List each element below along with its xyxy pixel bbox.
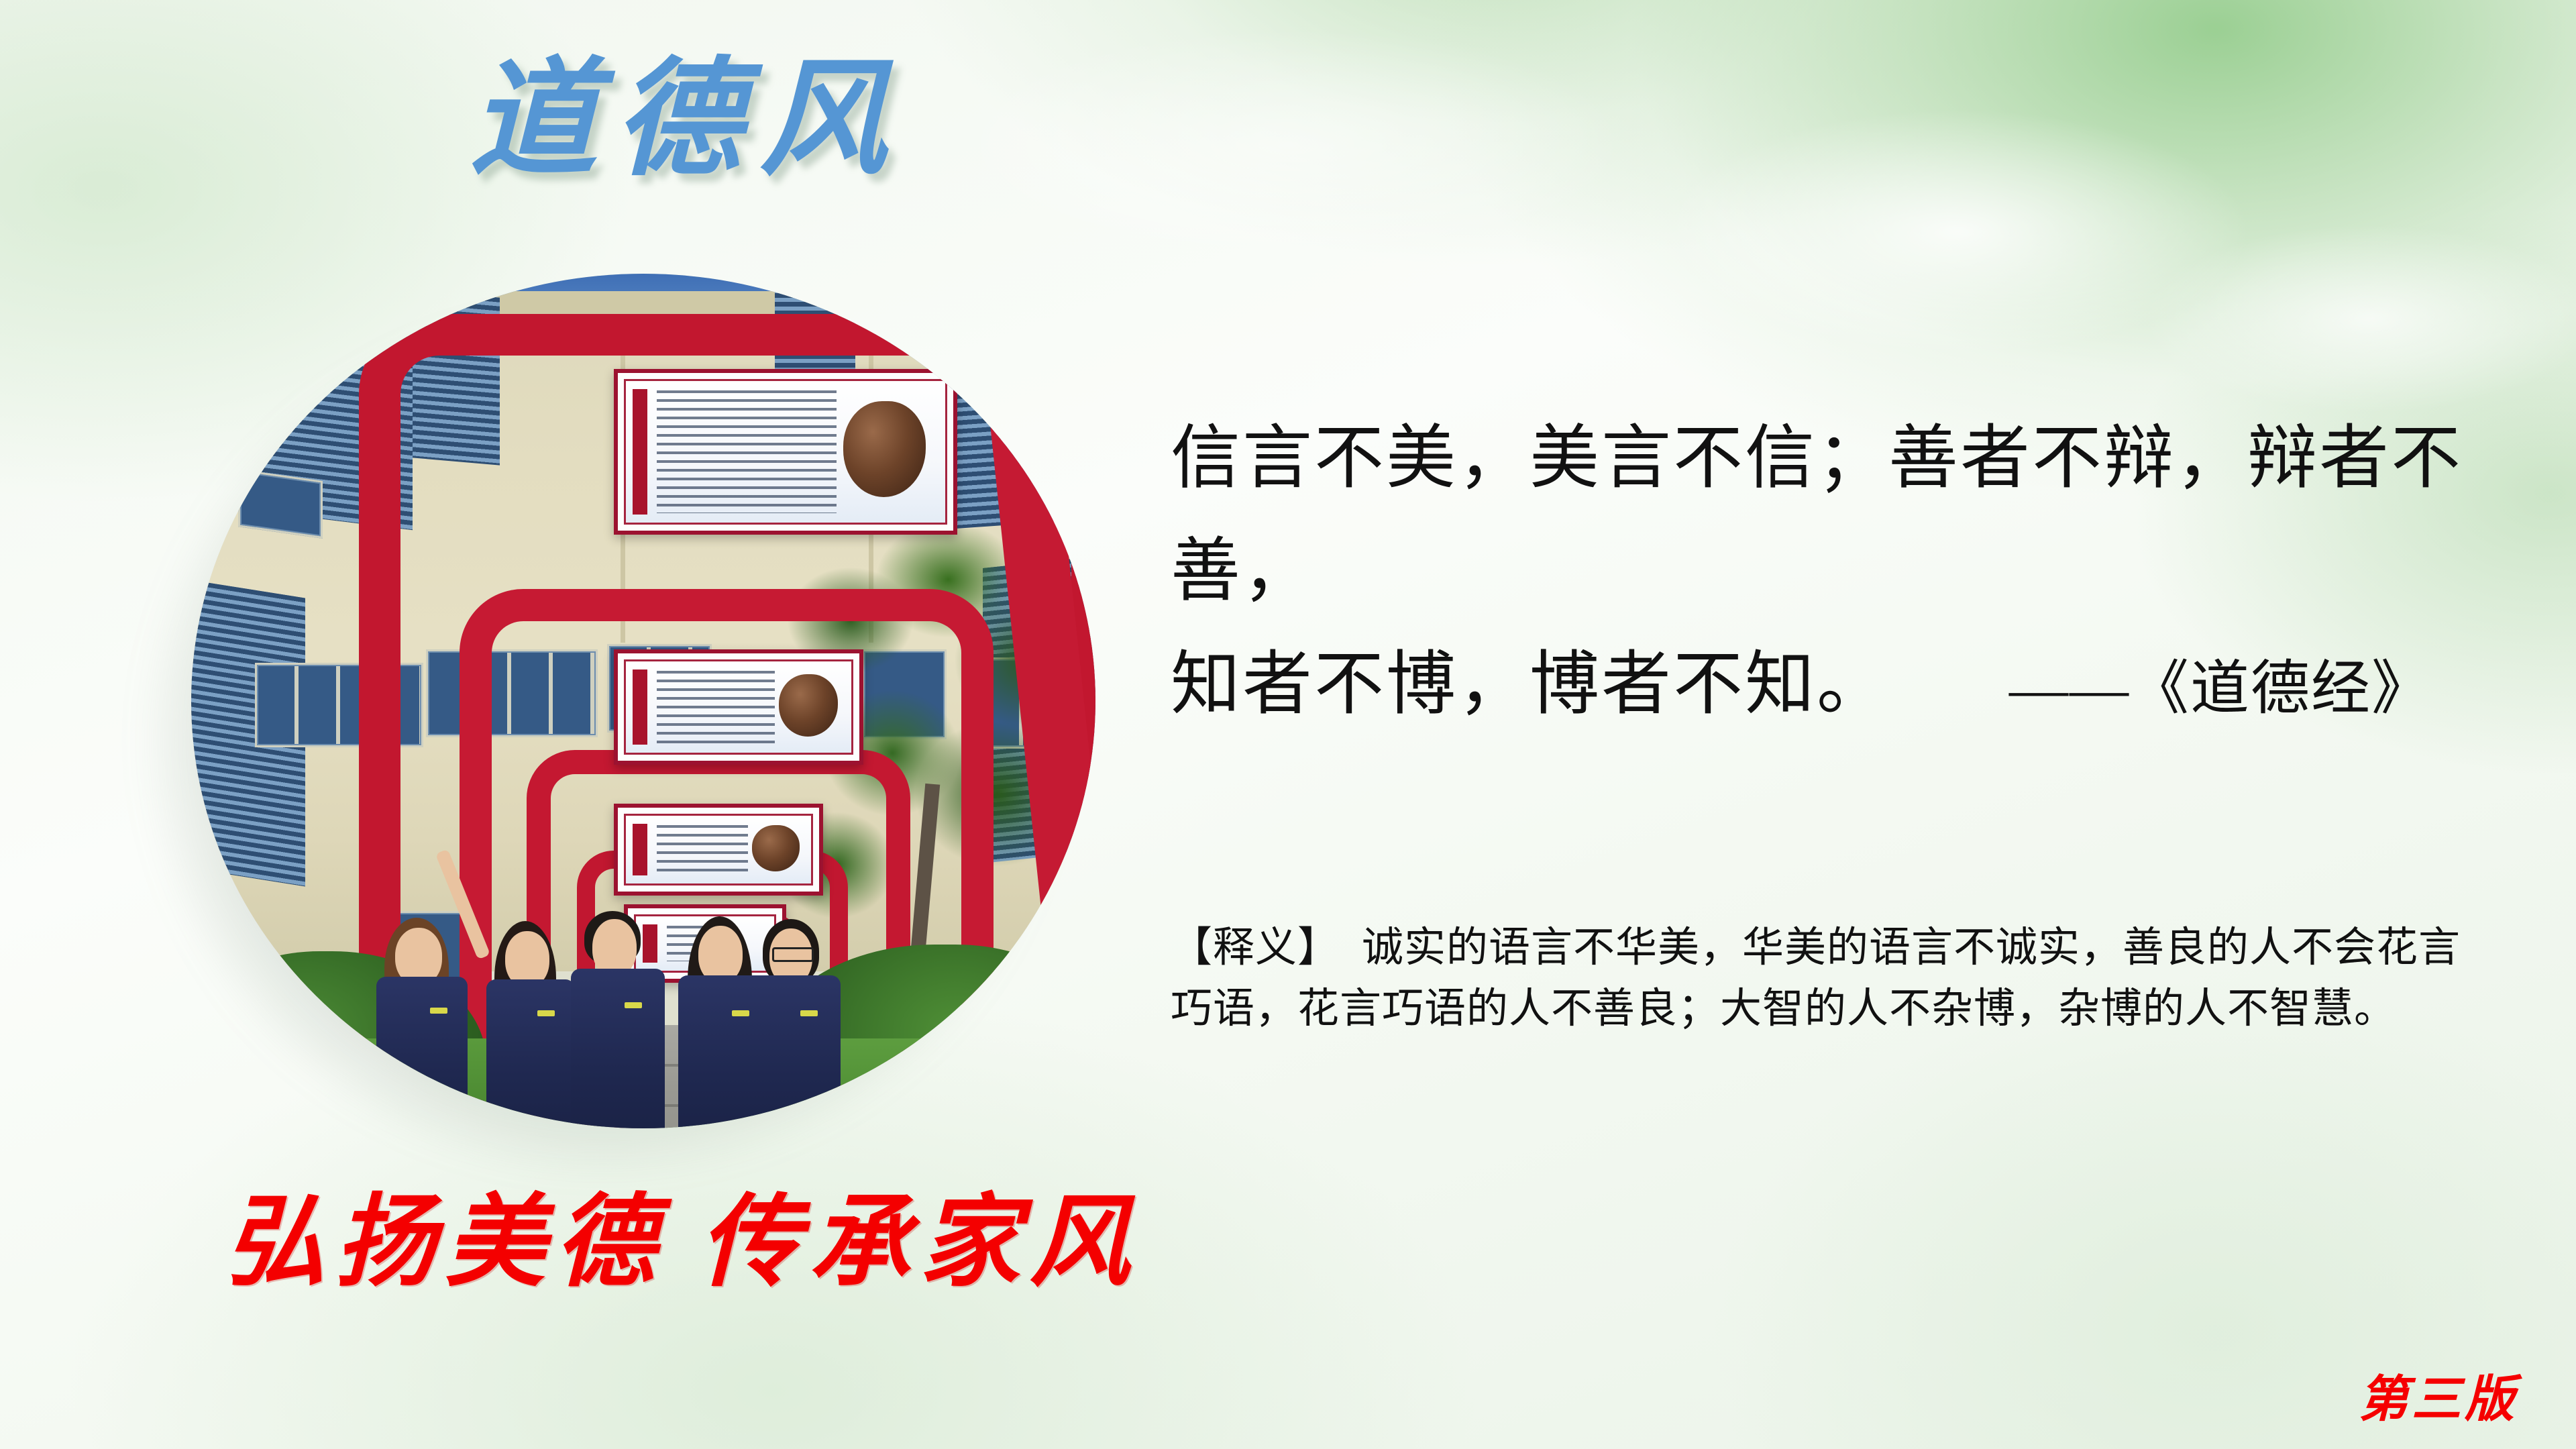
building-window [238, 469, 323, 539]
board-illustration [779, 674, 837, 736]
uniform-torso [486, 979, 575, 1128]
board-text-lines [657, 671, 775, 743]
skirt [387, 1126, 457, 1128]
board-seal [633, 669, 647, 745]
page-number-mark: 第三版 [2359, 1359, 2518, 1431]
board-inkstone-illustration [843, 401, 926, 497]
meaning-block: 【释义】 诚实的语言不华美，华美的语言不诚实，善良的人不会花言 巧语，花言巧语的… [1171, 918, 2472, 1039]
culture-display-board [614, 649, 863, 765]
board-inner [624, 814, 813, 885]
page-title: 道德风 [470, 57, 904, 184]
uniform-badge [800, 1010, 818, 1016]
meaning-label: 【释义】 [1171, 925, 1340, 971]
uniform-badge [625, 1002, 642, 1008]
board-illustration [752, 825, 800, 871]
newspaper-page: 道德风 [0, 0, 2576, 1449]
uniform-badge [537, 1010, 555, 1016]
meaning-line-2: 巧语，花言巧语的人不善良；大智的人不杂博，杂博的人不智慧。 [1171, 986, 2396, 1032]
uniform-torso [571, 969, 665, 1128]
glasses-icon [772, 947, 814, 962]
board-seal [633, 824, 647, 875]
board-seal [643, 924, 657, 963]
culture-display-board [614, 369, 957, 535]
board-inner [624, 379, 947, 525]
board-seal [633, 389, 647, 515]
photo-figure [191, 274, 1095, 1128]
uniform-torso [376, 977, 468, 1128]
meaning-line-1: 诚实的语言不华美，华美的语言不诚实，善良的人不会花言 [1362, 925, 2461, 971]
culture-display-board [614, 804, 823, 896]
uniform-badge [430, 1008, 447, 1014]
quote-attribution: ——《道德经》 [1171, 641, 2432, 726]
uniform-badge [732, 1010, 749, 1016]
uniform-torso [752, 975, 841, 1128]
board-inner [624, 659, 853, 755]
slogan-text: 弘扬美德 传承家风 [225, 1161, 1140, 1306]
board-text-lines [657, 390, 837, 513]
circular-photo [191, 274, 1095, 1128]
board-text-lines [657, 825, 748, 874]
quote-line-1: 信言不美，美言不信；善者不辩，辩者不善， [1171, 402, 2472, 629]
